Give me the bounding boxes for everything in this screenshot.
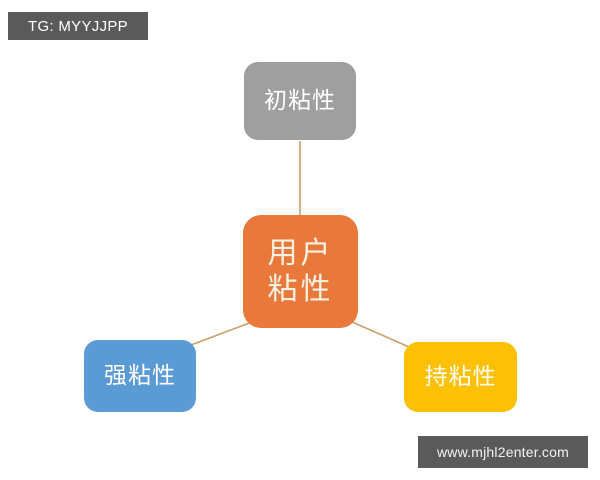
node-chi-zhan-xing[interactable]: 持粘性 <box>404 342 517 412</box>
node-right-label: 持粘性 <box>425 363 497 390</box>
tg-badge-label: TG: MYYJJPP <box>28 18 128 35</box>
node-left-label: 强粘性 <box>104 362 176 389</box>
connector-center-to-left <box>191 322 252 345</box>
node-chu-zhan-xing[interactable]: 初粘性 <box>244 62 356 140</box>
node-yong-hu-zhan-xing[interactable]: 用户 粘性 <box>243 215 358 328</box>
diagram-canvas: 初粘性 用户 粘性 强粘性 持粘性 TG: MYYJJPP www.mjhl2e… <box>0 0 600 480</box>
node-center-label: 用户 粘性 <box>268 236 334 307</box>
node-top-label: 初粘性 <box>264 87 336 114</box>
tg-badge: TG: MYYJJPP <box>8 12 148 40</box>
site-watermark: www.mjhl2enter.com <box>418 436 588 468</box>
node-qiang-zhan-xing[interactable]: 强粘性 <box>84 340 196 412</box>
site-watermark-label: www.mjhl2enter.com <box>437 444 569 460</box>
connector-center-to-right <box>350 321 409 347</box>
